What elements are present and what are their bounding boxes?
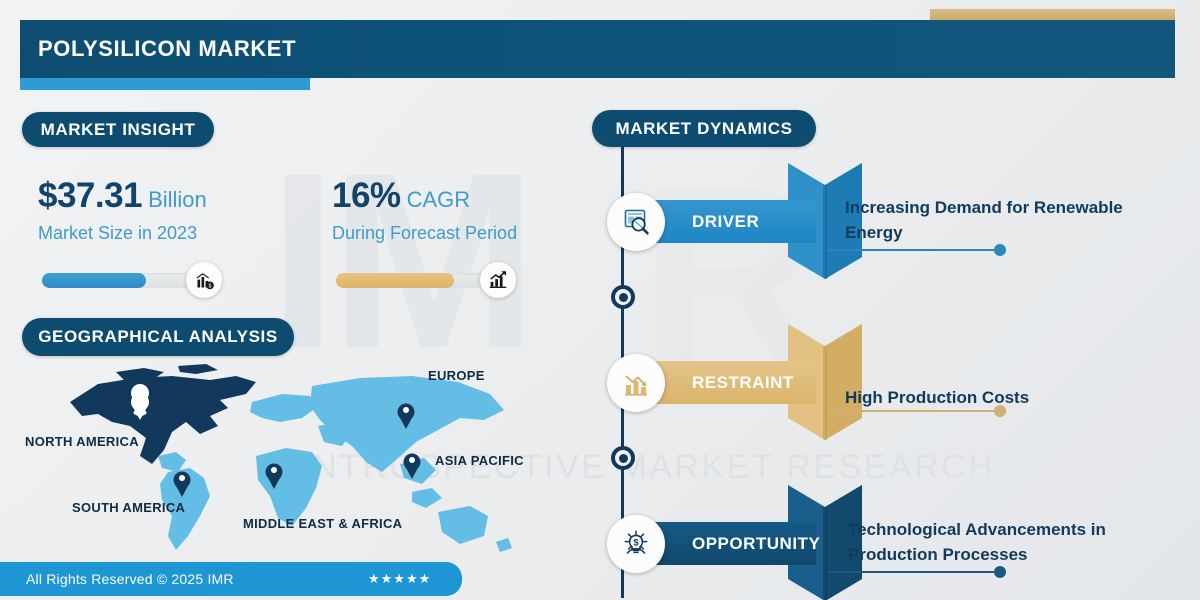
growth-chart-icon	[480, 262, 516, 298]
connector-dot-opportunity	[994, 566, 1006, 578]
copyright-text: All Rights Reserved © 2025 IMR	[26, 571, 234, 587]
stat-cagr: 16%CAGR During Forecast Period	[332, 178, 517, 244]
stat-market-size-value: $37.31	[38, 176, 142, 215]
header-gold-accent-bar	[930, 9, 1175, 20]
progress-track-market-size	[42, 273, 200, 288]
stat-market-size-subtitle: Market Size in 2023	[38, 223, 207, 244]
bar-chart-dollar-icon: $	[186, 262, 222, 298]
svg-text:$: $	[208, 283, 211, 289]
map-label-south-america: SOUTH AMERICA	[72, 500, 185, 515]
infographic-canvas: IM R INTROSPECTIVE MARKET RESEARCH POLYS…	[0, 0, 1200, 600]
map-label-north-america: NORTH AMERICA	[25, 434, 139, 449]
map-label-middle-east-africa: MIDDLE EAST & AFRICA	[243, 516, 402, 531]
timeline-node-marker	[611, 446, 635, 470]
stat-market-size-unit: Billion	[148, 187, 207, 212]
magnifier-document-icon	[607, 193, 665, 251]
map-label-europe: EUROPE	[428, 368, 485, 383]
dynamics-description-opportunity: Technological Advancements in Production…	[848, 518, 1178, 567]
header-blue-underline	[20, 78, 310, 90]
stat-cagr-subtitle: During Forecast Period	[332, 223, 517, 244]
page-title: POLYSILICON MARKET	[38, 36, 296, 62]
progress-track-cagr	[336, 273, 494, 288]
rating-stars: ★★★★★	[368, 571, 431, 587]
progress-fill-cagr	[336, 273, 454, 288]
stat-cagr-value: 16%	[332, 176, 401, 215]
section-heading-geographical-analysis: GEOGRAPHICAL ANALYSIS	[22, 318, 294, 356]
lightbulb-dollar-icon: $	[607, 515, 665, 573]
dynamics-description-driver: Increasing Demand for Renewable Energy	[845, 196, 1175, 245]
progress-fill-market-size	[42, 273, 146, 288]
connector-line-opportunity	[828, 571, 1000, 573]
stat-market-size: $37.31Billion Market Size in 2023	[38, 178, 207, 244]
svg-text:$: $	[633, 537, 638, 547]
map-label-asia-pacific: ASIA PACIFIC	[435, 453, 524, 468]
dynamics-description-restraint: High Production Costs	[845, 386, 1175, 411]
progress-row-market-size: $	[42, 262, 222, 298]
declining-bar-chart-icon	[607, 354, 665, 412]
section-heading-market-insight: MARKET INSIGHT	[22, 112, 214, 147]
connector-dot-driver	[994, 244, 1006, 256]
timeline-node-marker	[611, 285, 635, 309]
progress-row-cagr	[336, 262, 516, 298]
connector-line-driver	[828, 249, 1000, 251]
stat-cagr-unit: CAGR	[407, 187, 471, 212]
section-heading-market-dynamics: MARKET DYNAMICS	[592, 110, 816, 147]
